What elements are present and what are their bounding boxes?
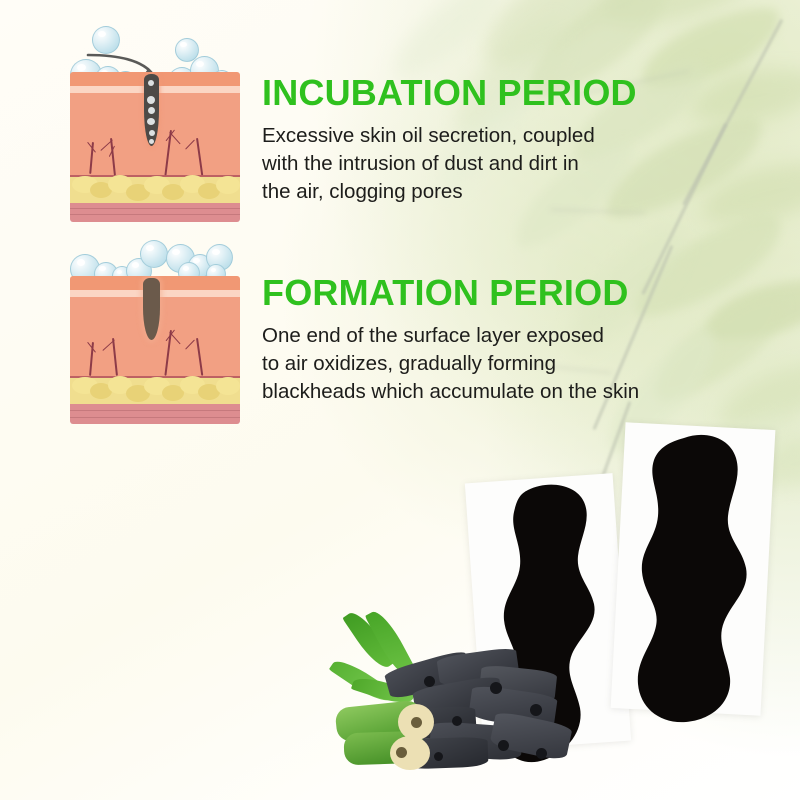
fat-globule: [216, 176, 240, 194]
bamboo-cut-face: [390, 736, 430, 770]
fat-globule: [216, 377, 240, 395]
watermark-leaf: [595, 0, 775, 36]
bubble-icon: [92, 26, 120, 54]
watermark-leaf: [700, 273, 800, 347]
section-body-formation: One end of the surface layer exposed to …: [262, 322, 639, 406]
pore-debris: [149, 139, 154, 144]
body-line: the air, clogging pores: [262, 178, 595, 206]
body-line: blackheads which accumulate on the skin: [262, 378, 639, 406]
charcoal-hole: [530, 704, 542, 716]
pore-debris: [148, 107, 155, 114]
watermark-twig: [641, 123, 727, 295]
bamboo-hole: [396, 747, 407, 758]
nose-strip-right: [622, 430, 772, 730]
watermark-leaf: [620, 204, 796, 328]
watermark-leaf: [688, 65, 800, 127]
muscle-layer: [70, 404, 240, 424]
charcoal-hole: [498, 740, 509, 751]
watermark-leaf: [638, 282, 800, 413]
product-photo-bamboo-charcoal: [330, 620, 580, 800]
charcoal-hole: [434, 752, 443, 761]
body-line: with the intrusion of dust and dirt in: [262, 150, 595, 178]
body-line: One end of the surface layer exposed: [262, 322, 639, 350]
body-line: to air oxidizes, gradually forming: [262, 350, 639, 378]
pore-debris: [149, 130, 155, 136]
pore-debris: [148, 80, 154, 86]
muscle-striation: [70, 214, 240, 215]
muscle-striation: [70, 208, 240, 209]
bubble-icon: [140, 240, 168, 268]
watermark-twig: [550, 209, 646, 214]
body-line: Excessive skin oil secretion, coupled: [262, 122, 595, 150]
pore-debris: [147, 96, 155, 104]
section-heading-formation: FORMATION PERIOD: [262, 275, 629, 311]
charcoal-hole: [536, 748, 547, 759]
watermark-leaf: [465, 0, 666, 81]
blackhead-plug: [143, 278, 160, 340]
bamboo-cut-face: [398, 704, 434, 740]
section-heading-incubation: INCUBATION PERIOD: [262, 75, 637, 111]
section-body-incubation: Excessive skin oil secretion, coupled wi…: [262, 122, 595, 206]
charcoal-hole: [424, 676, 435, 687]
charcoal-hole: [490, 682, 502, 694]
watermark-leaf: [697, 156, 800, 230]
skin-diagram-incubation: [70, 18, 242, 224]
infographic-canvas: INCUBATION PERIOD Excessive skin oil sec…: [0, 0, 800, 800]
clogged-pore: [144, 74, 159, 146]
skin-cross-section: [70, 72, 240, 222]
watermark-leaf: [632, 0, 791, 98]
bamboo-hole: [411, 717, 422, 728]
muscle-striation: [70, 417, 240, 418]
muscle-layer: [70, 203, 240, 222]
muscle-striation: [70, 410, 240, 411]
watermark-leaf: [592, 107, 776, 230]
watermark-twig: [682, 19, 783, 206]
charcoal-hole: [452, 716, 462, 726]
pore-debris: [147, 118, 155, 125]
skin-cross-section: [70, 276, 240, 424]
skin-diagram-formation: [70, 236, 242, 426]
